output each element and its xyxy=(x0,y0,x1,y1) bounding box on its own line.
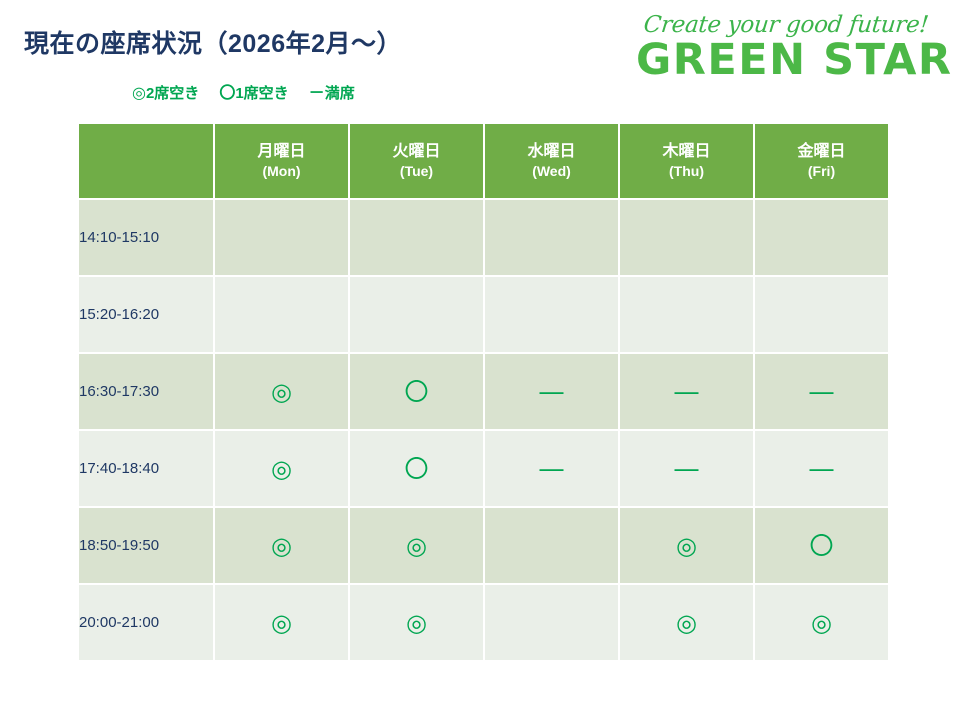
slot-cell-wed[interactable] xyxy=(485,585,618,660)
slot-cell-mon[interactable] xyxy=(215,200,348,275)
slot-cell-fri[interactable]: ― xyxy=(755,354,888,429)
column-header-tue-jp: 火曜日 xyxy=(350,142,483,163)
slot-cell-wed[interactable]: ― xyxy=(485,354,618,429)
logo-wordmark: GREEN STAR xyxy=(636,38,936,83)
dash-icon: － xyxy=(309,85,325,101)
time-slot-label: 20:00-21:00 xyxy=(79,585,213,660)
page-title: 現在の座席状況（2026年2月〜） xyxy=(24,24,402,60)
table-row: 14:10-15:10 xyxy=(79,200,888,275)
double-circle-icon: ◎ xyxy=(132,85,146,101)
slot-cell-mon[interactable]: ◎ xyxy=(215,585,348,660)
circle-icon: 〇 xyxy=(219,85,235,101)
slot-cell-tue[interactable]: ◎ xyxy=(350,585,483,660)
legend-item-full: － 満席 xyxy=(309,82,355,103)
legend-label-one-seat-available: 1席空き xyxy=(235,82,288,103)
slot-cell-thu[interactable] xyxy=(620,200,753,275)
time-slot-label: 14:10-15:10 xyxy=(79,200,213,275)
legend-label-two-seats-available: 2席空き xyxy=(146,82,199,103)
slot-cell-wed[interactable] xyxy=(485,508,618,583)
column-header-fri-en: (Fri) xyxy=(755,162,888,180)
legend-label-full: 満席 xyxy=(325,82,355,103)
column-header-mon-en: (Mon) xyxy=(215,162,348,180)
column-header-thu-en: (Thu) xyxy=(620,162,753,180)
slot-cell-thu[interactable] xyxy=(620,277,753,352)
column-header-tue-en: (Tue) xyxy=(350,162,483,180)
brand-logo: Create your good future! GREEN STAR xyxy=(636,14,936,83)
time-slot-label: 18:50-19:50 xyxy=(79,508,213,583)
slot-cell-fri[interactable]: ◎ xyxy=(755,585,888,660)
time-slot-label: 16:30-17:30 xyxy=(79,354,213,429)
legend-item-one-seat-available: 〇 1席空き xyxy=(219,82,288,103)
slot-cell-thu[interactable]: ◎ xyxy=(620,508,753,583)
slot-cell-thu[interactable]: ― xyxy=(620,431,753,506)
logo-tagline: Create your good future! xyxy=(635,14,937,37)
table-row: 16:30-17:30 ◎ 〇 ― ― ― xyxy=(79,354,888,429)
table-row: 18:50-19:50 ◎ ◎ ◎ 〇 xyxy=(79,508,888,583)
slot-cell-mon[interactable]: ◎ xyxy=(215,508,348,583)
table-row: 17:40-18:40 ◎ 〇 ― ― ― xyxy=(79,431,888,506)
column-header-tue: 火曜日 (Tue) xyxy=(350,124,483,198)
slot-cell-thu[interactable]: ― xyxy=(620,354,753,429)
slot-cell-fri[interactable] xyxy=(755,200,888,275)
slot-cell-fri[interactable] xyxy=(755,277,888,352)
table-row: 20:00-21:00 ◎ ◎ ◎ ◎ xyxy=(79,585,888,660)
table-row: 15:20-16:20 xyxy=(79,277,888,352)
slot-cell-tue[interactable]: 〇 xyxy=(350,431,483,506)
slot-cell-fri[interactable]: 〇 xyxy=(755,508,888,583)
column-header-thu: 木曜日 (Thu) xyxy=(620,124,753,198)
legend: ◎ 2席空き 〇 1席空き － 満席 xyxy=(132,82,355,103)
table-header: 月曜日 (Mon) 火曜日 (Tue) 水曜日 (Wed) 木曜日 (Thu) … xyxy=(79,124,888,198)
slot-cell-wed[interactable] xyxy=(485,277,618,352)
column-header-fri-jp: 金曜日 xyxy=(755,142,888,163)
slot-cell-wed[interactable]: ― xyxy=(485,431,618,506)
table-corner-cell xyxy=(79,124,213,198)
slot-cell-tue[interactable] xyxy=(350,277,483,352)
slot-cell-mon[interactable]: ◎ xyxy=(215,354,348,429)
time-slot-label: 17:40-18:40 xyxy=(79,431,213,506)
slot-cell-wed[interactable] xyxy=(485,200,618,275)
legend-item-two-seats-available: ◎ 2席空き xyxy=(132,82,199,103)
column-header-mon: 月曜日 (Mon) xyxy=(215,124,348,198)
column-header-thu-jp: 木曜日 xyxy=(620,142,753,163)
time-slot-label: 15:20-16:20 xyxy=(79,277,213,352)
seat-availability-table: 月曜日 (Mon) 火曜日 (Tue) 水曜日 (Wed) 木曜日 (Thu) … xyxy=(77,122,890,662)
column-header-wed: 水曜日 (Wed) xyxy=(485,124,618,198)
slot-cell-mon[interactable]: ◎ xyxy=(215,431,348,506)
slot-cell-thu[interactable]: ◎ xyxy=(620,585,753,660)
column-header-mon-jp: 月曜日 xyxy=(215,142,348,163)
slot-cell-tue[interactable] xyxy=(350,200,483,275)
slot-cell-fri[interactable]: ― xyxy=(755,431,888,506)
table-body: 14:10-15:10 15:20-16:20 16:30-17:30 ◎ 〇 … xyxy=(79,200,888,660)
slot-cell-tue[interactable]: 〇 xyxy=(350,354,483,429)
column-header-fri: 金曜日 (Fri) xyxy=(755,124,888,198)
slot-cell-mon[interactable] xyxy=(215,277,348,352)
column-header-wed-jp: 水曜日 xyxy=(485,142,618,163)
slot-cell-tue[interactable]: ◎ xyxy=(350,508,483,583)
table-header-row: 月曜日 (Mon) 火曜日 (Tue) 水曜日 (Wed) 木曜日 (Thu) … xyxy=(79,124,888,198)
column-header-wed-en: (Wed) xyxy=(485,162,618,180)
